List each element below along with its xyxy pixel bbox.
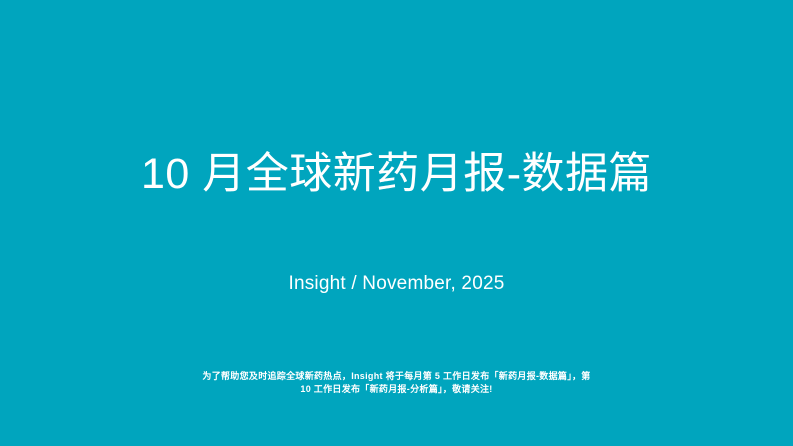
slide-subtitle: Insight / November, 2025 [0, 272, 793, 296]
footer-line-2: 10 工作日发布「新药月报-分析篇」，敬请关注! [120, 383, 673, 396]
page-title: 10 月全球新药月报-数据篇 [0, 148, 793, 200]
footer-note: 为了帮助您及时追踪全球新药热点，Insight 将于每月第 5 工作日发布「新药… [0, 370, 793, 395]
title-slide: 10 月全球新药月报-数据篇 Insight / November, 2025 … [0, 0, 793, 446]
footer-line-1: 为了帮助您及时追踪全球新药热点，Insight 将于每月第 5 工作日发布「新药… [120, 370, 673, 383]
subtitle-block: Insight / November, 2025 [0, 272, 793, 296]
title-block: 10 月全球新药月报-数据篇 [0, 148, 793, 200]
